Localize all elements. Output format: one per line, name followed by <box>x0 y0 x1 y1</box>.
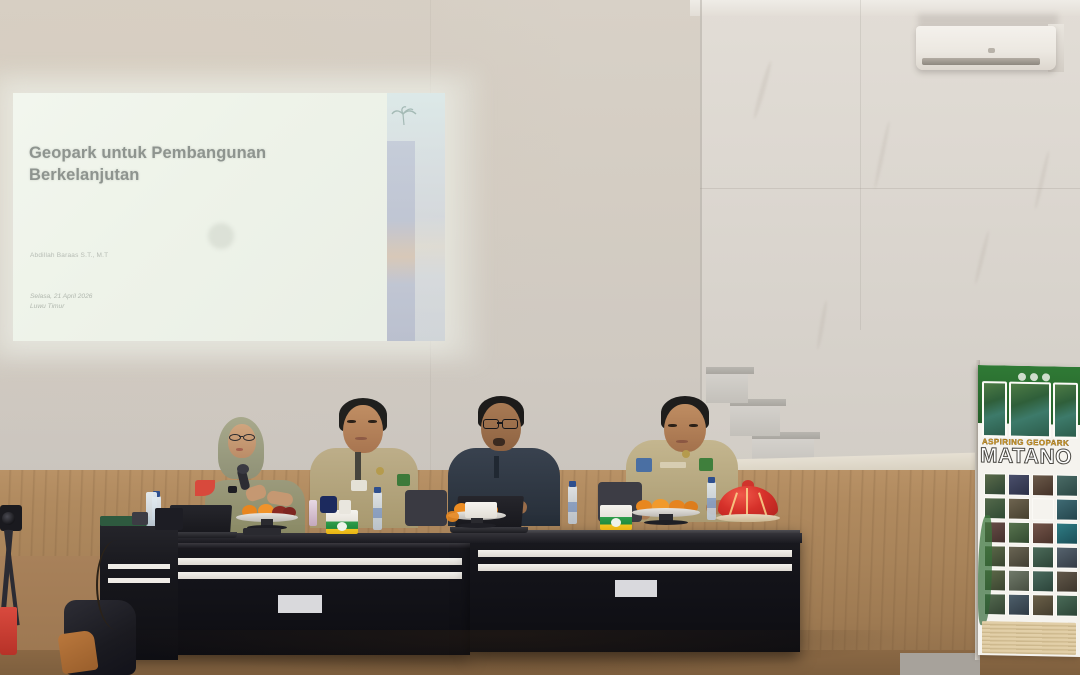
banner-grid-cell <box>1032 522 1054 544</box>
banner-grid-cell <box>1032 474 1054 496</box>
microphone-head-icon <box>237 464 249 474</box>
fruit-plate <box>632 500 700 528</box>
water-bottle[interactable] <box>707 482 716 520</box>
banner-grid-cell <box>1056 547 1078 569</box>
panelist-2-face <box>343 405 383 453</box>
slide-watermark <box>208 223 234 249</box>
banner-grid-cell <box>1056 499 1078 521</box>
tissue-box-logo-icon <box>611 518 621 527</box>
microphone-base[interactable] <box>243 528 281 535</box>
banner-photo-grid <box>984 473 1078 615</box>
banner-logos <box>1018 372 1076 382</box>
panelist-3-beard <box>493 438 505 446</box>
tissue-box[interactable] <box>600 505 632 530</box>
panelist-2-eye <box>368 420 377 423</box>
table-accent-band <box>478 550 792 557</box>
plate-base <box>644 520 688 525</box>
bottle-label <box>373 508 382 518</box>
water-bottle[interactable] <box>568 486 577 524</box>
tan-bag <box>57 630 98 675</box>
banner-grid-cell <box>1008 498 1030 520</box>
banner-grid-cell <box>1056 475 1078 497</box>
uniform-badge-icon <box>376 467 384 475</box>
panelist-2-mouth <box>355 437 367 440</box>
uniform-patch-icon <box>397 474 410 486</box>
tissue-box-logo-icon <box>337 522 347 531</box>
small-white-box[interactable] <box>339 500 351 514</box>
banner-grid-cell <box>1056 523 1078 545</box>
panelist-4-mouth <box>676 440 688 443</box>
glasses-icon <box>502 419 518 429</box>
slide-date-place: Selasa, 21 April 2026 Luwu Timur <box>30 292 92 312</box>
wall-seam <box>860 0 861 330</box>
palm-tree-icon <box>391 105 417 127</box>
banner-grid-cell <box>984 473 1006 495</box>
banner-photo <box>1053 382 1078 438</box>
ac-vent <box>922 58 1040 65</box>
orange-fruit <box>446 511 459 522</box>
banner-grid-cell <box>1056 595 1078 617</box>
geopark-logo-icon <box>1030 373 1038 381</box>
conference-hall-photo: Geopark untuk Pembangunan Berkelanjutan … <box>0 0 1080 675</box>
bottle-cap-icon <box>569 481 576 487</box>
table-floor-shadow <box>110 630 900 675</box>
bottle-cap-icon <box>374 487 381 493</box>
slide-place: Luwu Timur <box>30 302 92 312</box>
panelist-4-face <box>664 404 706 452</box>
banner-grid-cell <box>1032 498 1054 520</box>
slide-title: Geopark untuk Pembangunan Berkelanjutan <box>29 143 349 187</box>
bottle-label <box>707 498 716 508</box>
floor-gray-block <box>900 653 980 675</box>
food-cover-rim <box>716 514 780 522</box>
banner-photo <box>982 381 1007 437</box>
panelist-4-eye <box>668 424 677 427</box>
slide-photo-inner <box>387 141 415 341</box>
geopark-banner: ASPIRING GEOPARK MATANO <box>978 365 1080 657</box>
bottle-label <box>568 502 577 512</box>
banner-grid-cell <box>1032 570 1054 592</box>
banner-hero-photos <box>982 381 1078 439</box>
desk-device[interactable] <box>132 512 148 525</box>
shirt-placket <box>494 456 499 478</box>
ac-indicator-icon <box>988 48 995 53</box>
stage-step-riser <box>730 404 780 436</box>
chair-back <box>405 490 447 526</box>
stage-step-tread <box>706 367 754 374</box>
glasses-icon <box>243 434 255 441</box>
banner-grid-cell <box>1008 474 1030 496</box>
slide-date: Selasa, 21 April 2026 <box>30 292 92 302</box>
table-nameplate-left <box>278 595 322 613</box>
bottle-cap-icon <box>708 477 715 483</box>
uniform-patch-icon <box>699 458 713 471</box>
desk-monitor <box>155 508 183 530</box>
banner-grid-cell <box>1056 571 1078 593</box>
wristwatch-icon <box>228 486 237 493</box>
uniform-badge-icon <box>682 450 690 458</box>
banner-photo <box>1009 382 1051 439</box>
banner-grid-cell <box>1032 594 1054 616</box>
glasses-icon <box>483 419 499 429</box>
banner-grid-cell <box>1008 546 1030 568</box>
air-conditioner-icon <box>916 26 1056 70</box>
power-cable <box>96 540 138 630</box>
banner-matano-text: MATANO <box>980 445 1080 468</box>
table-accent-band <box>478 564 792 571</box>
id-card-icon <box>351 480 367 491</box>
panelist-4-eye <box>689 424 698 427</box>
banner-grid-cell <box>1008 570 1030 592</box>
sanitizer-bottle[interactable] <box>309 500 317 526</box>
dark-blue-container[interactable] <box>320 496 337 513</box>
banner-sponsor-strip <box>982 621 1076 655</box>
banner-grid-cell <box>1032 546 1054 568</box>
glasses-bridge-icon <box>239 436 243 437</box>
banner-grid-cell <box>1008 522 1030 544</box>
uniform-patch-icon <box>636 458 652 472</box>
tissue-box-white[interactable] <box>465 502 497 518</box>
partner-logo-icon <box>1042 373 1050 381</box>
water-bottle[interactable] <box>373 492 382 530</box>
stage-step-riser <box>706 372 748 403</box>
projected-slide: Geopark untuk Pembangunan Berkelanjutan … <box>13 93 445 341</box>
name-tag-icon <box>660 462 686 468</box>
banner-grid-cell <box>1008 594 1030 616</box>
wall-horizontal-line <box>700 188 1080 189</box>
camera-lens-icon <box>2 512 15 525</box>
panelist-1-face <box>228 424 256 458</box>
unesco-logo-icon <box>1018 372 1026 380</box>
slide-presenter-name: Abdillah Baraas S.T., M.T <box>30 252 108 259</box>
panelist-1-mouth <box>236 448 243 451</box>
panelist-2-eye <box>347 420 356 423</box>
table-nameplate-right <box>615 580 657 597</box>
red-food-cover <box>718 480 778 522</box>
glasses-bridge-icon <box>497 422 502 424</box>
red-bucket <box>0 607 17 655</box>
